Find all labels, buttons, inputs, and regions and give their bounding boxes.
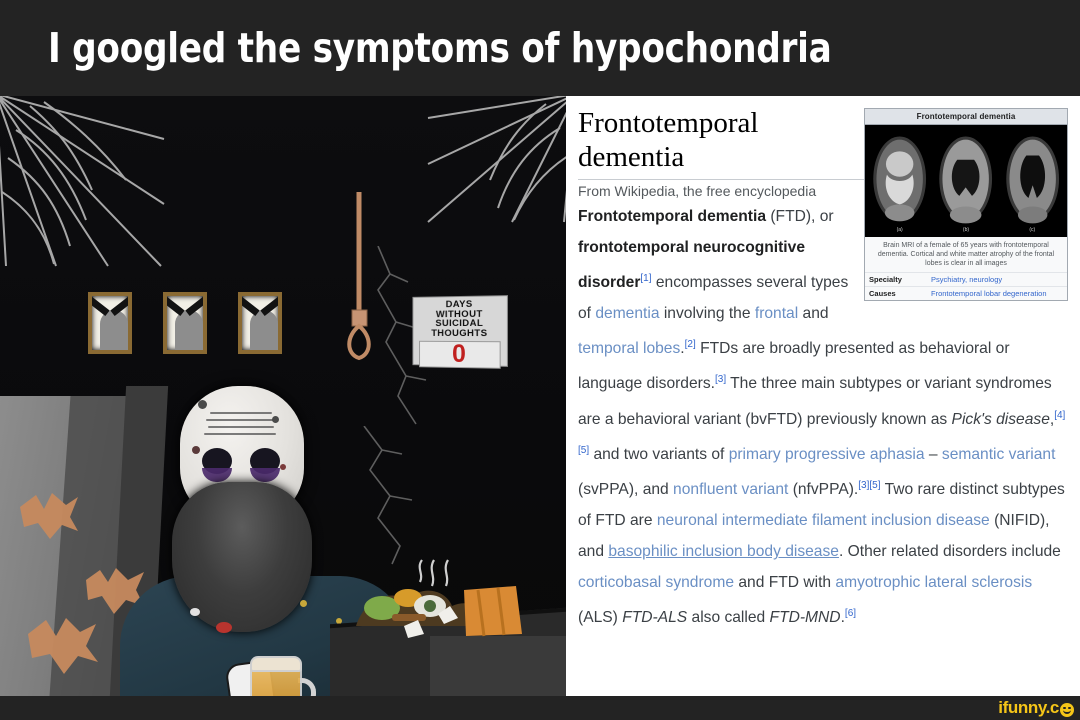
body-stain — [190, 608, 200, 616]
body-text: and FTD with — [734, 574, 835, 591]
link-semantic-variant[interactable]: semantic variant — [942, 446, 1056, 463]
infobox-row: Causes Frontotemporal lobar degeneration — [865, 286, 1067, 300]
forehead-wrinkle — [208, 426, 274, 428]
mourning-ribbon — [238, 292, 260, 316]
smiley-face-icon — [1060, 703, 1074, 717]
infobox: Frontotemporal dementia (a) — [864, 108, 1068, 301]
term-ftd: Frontotemporal dementia — [578, 208, 766, 225]
body-text: – — [925, 446, 942, 463]
food-pile — [346, 556, 536, 651]
term-ftd-mnd: FTD-MND — [770, 609, 841, 626]
link-dementia[interactable]: dementia — [595, 305, 659, 322]
forehead-wrinkle — [210, 412, 272, 414]
mri-label: (c) — [1001, 227, 1064, 233]
days-without-suicidal-thoughts-sign: DAYS WITHOUT SUICIDAL THOUGHTS 0 — [412, 295, 508, 367]
body-text: (nfvPPA). — [788, 481, 858, 498]
bat-icon — [26, 616, 106, 686]
link-corticobasal-syndrome[interactable]: corticobasal syndrome — [578, 574, 734, 591]
mourning-ribbon — [163, 292, 185, 316]
infobox-row-key: Specialty — [869, 275, 931, 284]
link-als[interactable]: amyotrophic lateral sclerosis — [835, 574, 1032, 591]
infobox-row-key: Causes — [869, 289, 931, 298]
link-frontal[interactable]: frontal — [755, 305, 798, 322]
sign-line-4: THOUGHTS — [431, 329, 487, 339]
forehead-wrinkle — [204, 433, 276, 435]
link-temporal-lobes[interactable]: temporal lobes — [578, 340, 680, 357]
infobox-caption: Brain MRI of a female of 65 years with f… — [865, 237, 1067, 272]
mri-label: (a) — [868, 227, 931, 233]
body-stain — [300, 600, 307, 607]
spiderweb-icon — [0, 96, 166, 269]
link-nifid[interactable]: neuronal intermediate filament inclusion… — [657, 512, 990, 529]
face-spot — [280, 464, 286, 470]
forehead-wrinkle — [206, 419, 276, 421]
reference-link[interactable]: [6] — [845, 608, 856, 619]
term-picks-disease: Pick's disease — [952, 411, 1050, 428]
reference-link[interactable]: [3][5] — [858, 480, 880, 491]
ifunny-watermark-bar: ifunny.c — [0, 696, 1080, 720]
reference-link[interactable]: [1] — [640, 273, 651, 284]
spiderweb-icon — [426, 96, 566, 224]
body-text: (svPPA), and — [578, 481, 673, 498]
mri-scan-image: (b) — [934, 128, 997, 234]
under-eye-bag — [250, 468, 280, 482]
mourning-ribbon — [88, 292, 110, 316]
infobox-image: (a) (b) — [865, 125, 1067, 237]
infobox-row-value[interactable]: Psychiatry, neurology — [931, 275, 1063, 284]
body-text: (ALS) — [578, 609, 622, 626]
body-text: . Other related disorders include — [839, 543, 1061, 560]
body-text: and — [798, 305, 828, 322]
caption-bar: I googled the symptoms of hypochondria — [0, 0, 1080, 96]
mri-label: (b) — [934, 227, 997, 233]
beer-foam — [250, 656, 302, 672]
face-spot — [198, 400, 207, 409]
framed-portrait — [88, 292, 132, 354]
caption-text: I googled the symptoms of hypochondria — [48, 24, 832, 72]
infobox-title: Frontotemporal dementia — [865, 109, 1067, 125]
link-primary-progressive-aphasia[interactable]: primary progressive aphasia — [729, 446, 925, 463]
body-text: involving the — [660, 305, 755, 322]
body-text: (FTD), or — [766, 208, 834, 225]
meme-image-panel: imgflip.com DAYS WITHOUT SUICIDAL THOUGH… — [0, 96, 566, 696]
body-stain — [216, 622, 232, 633]
reference-link[interactable]: [3] — [715, 374, 726, 385]
wikipedia-article-panel: Frontotemporal dementia (a) — [566, 96, 1080, 696]
face-spot — [192, 446, 200, 454]
infobox-row: Specialty Psychiatry, neurology — [865, 272, 1067, 286]
term-ftd-als: FTD-ALS — [622, 609, 687, 626]
body-text: also called — [687, 609, 769, 626]
framed-portrait — [163, 292, 207, 354]
face-spot — [272, 416, 279, 423]
framed-portrait — [238, 292, 282, 354]
sign-counter-value: 0 — [452, 342, 466, 367]
mri-scan-image: (c) — [1001, 128, 1064, 234]
link-nonfluent-variant[interactable]: nonfluent variant — [673, 481, 788, 498]
beer-mug — [250, 652, 312, 696]
under-eye-bag — [202, 468, 232, 482]
bat-icon — [18, 491, 88, 551]
link-basophilic-inclusion-body-disease[interactable]: basophilic inclusion body disease — [608, 543, 839, 560]
mri-scan-image: (a) — [868, 128, 931, 234]
infobox-row-value[interactable]: Frontotemporal lobar degeneration — [931, 289, 1063, 298]
sign-counter-box: 0 — [419, 341, 501, 369]
body-text: and two variants of — [589, 446, 729, 463]
meme-page: I googled the symptoms of hypochondria — [0, 0, 1080, 720]
ifunny-watermark-text: ifunny.c — [998, 698, 1059, 718]
reference-link[interactable]: [2] — [685, 339, 696, 350]
